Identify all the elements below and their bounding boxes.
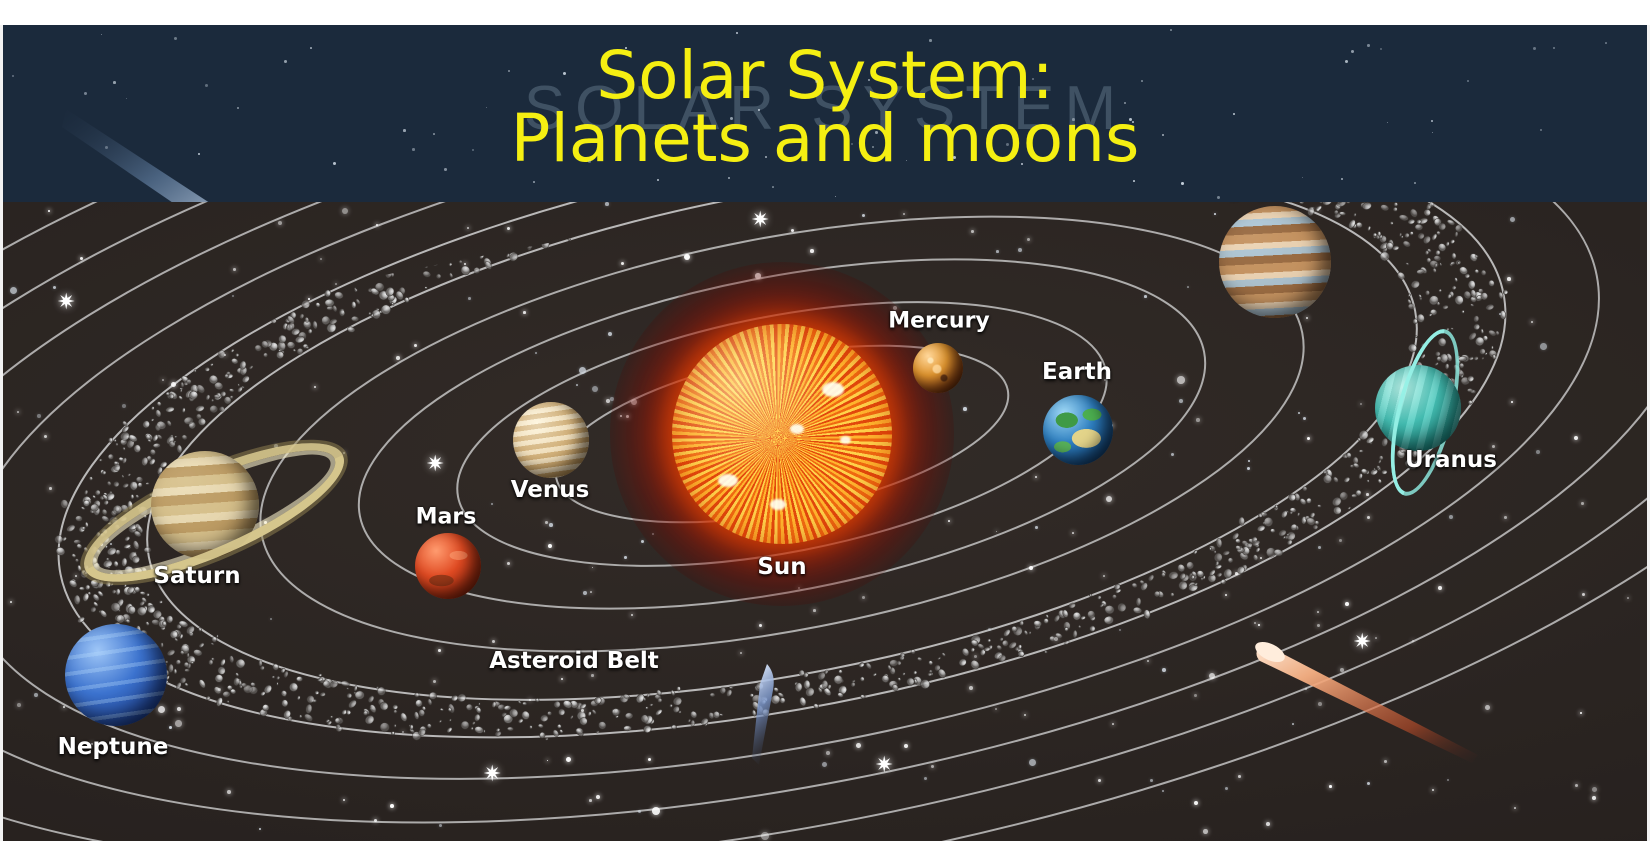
star [10, 601, 12, 603]
page-edge-bottom [0, 841, 1650, 849]
star [1235, 572, 1238, 575]
label-earth: Earth [1042, 359, 1112, 385]
star [1507, 277, 1511, 281]
star [591, 674, 594, 677]
star [1360, 403, 1362, 405]
label-venus: Venus [511, 477, 590, 503]
header-star [412, 148, 415, 151]
star [1540, 343, 1547, 350]
sparkle-star: ✷ [875, 754, 893, 776]
comet-bottom-left-icon [745, 662, 790, 767]
star [1194, 801, 1198, 805]
star [1029, 759, 1036, 766]
header-star [533, 181, 535, 183]
header-star [1217, 196, 1220, 199]
star [1225, 594, 1227, 596]
header-star [1133, 180, 1135, 182]
label-mars: Mars [416, 505, 477, 530]
star [1298, 412, 1300, 414]
planet-body-venus [513, 402, 589, 478]
planet-uranus[interactable] [1375, 365, 1461, 451]
star [1177, 376, 1185, 384]
star [175, 720, 182, 727]
star [638, 810, 641, 813]
star [75, 575, 77, 577]
planet-jupiter[interactable] [1219, 206, 1331, 318]
star [1266, 822, 1270, 826]
star [822, 762, 827, 767]
header-star [1072, 118, 1075, 121]
header-star [715, 61, 718, 64]
star [652, 807, 660, 815]
star [1035, 476, 1037, 478]
planet-saturn[interactable] [151, 451, 259, 559]
header-star [1233, 113, 1235, 115]
star [1144, 295, 1147, 298]
star [1258, 624, 1260, 626]
planet-body-neptune [65, 624, 167, 726]
star [590, 591, 592, 593]
star [1214, 213, 1216, 215]
star [1581, 502, 1584, 505]
star [581, 709, 584, 712]
header-star [875, 131, 878, 134]
star [233, 268, 236, 271]
title-line-1: Solar System: [0, 45, 1650, 108]
header-star [835, 196, 836, 197]
header-star [310, 47, 312, 49]
star [1449, 515, 1453, 519]
header-star [1124, 102, 1126, 104]
star [1196, 418, 1200, 422]
star [342, 208, 348, 214]
header-star [284, 60, 287, 63]
star [44, 435, 47, 438]
star [1345, 602, 1349, 606]
star [1536, 450, 1540, 454]
sparkle-star: ✷ [751, 209, 769, 231]
star [438, 649, 441, 652]
star [761, 832, 769, 840]
sun-body [672, 324, 892, 544]
star [624, 556, 627, 559]
label-sun: Sun [757, 554, 806, 580]
star [1318, 546, 1321, 549]
title-line-2: Planets and moons [0, 108, 1650, 171]
star [948, 520, 950, 522]
star [278, 221, 282, 225]
star [1018, 248, 1022, 252]
star [227, 790, 231, 794]
star [903, 213, 905, 215]
star [1329, 785, 1332, 788]
star [34, 693, 38, 697]
star [1514, 807, 1516, 809]
planet-body-mercury [913, 343, 963, 393]
star [1103, 575, 1105, 577]
star [1203, 829, 1208, 834]
star [1194, 694, 1197, 697]
planet-body-jupiter [1219, 206, 1331, 318]
star [1627, 597, 1629, 599]
star [545, 521, 548, 524]
header-star [12, 75, 14, 77]
header-star [1170, 29, 1172, 31]
planet-body-mars [415, 533, 481, 599]
header-star [1302, 177, 1303, 178]
star [971, 230, 974, 233]
star [1029, 566, 1033, 570]
star [1112, 723, 1114, 725]
header-star [1341, 178, 1343, 180]
star [1238, 775, 1241, 778]
star [1592, 796, 1596, 800]
header-star [765, 156, 767, 158]
header-star [1605, 42, 1607, 44]
star [507, 562, 510, 565]
star [810, 249, 814, 253]
header-star [588, 160, 591, 163]
star [1187, 286, 1189, 288]
solar-system-poster: SOLAR SYSTEM Solar System: Planets and m… [0, 0, 1650, 849]
star [576, 384, 578, 386]
header-star [736, 32, 738, 34]
page-edge-top [0, 0, 1650, 25]
star [162, 379, 164, 381]
star [390, 804, 394, 808]
planet-mercury[interactable] [913, 343, 963, 393]
star [48, 210, 50, 212]
star [1438, 586, 1442, 590]
star [1504, 516, 1507, 519]
star [996, 250, 999, 253]
header-star [657, 179, 659, 181]
star [218, 688, 221, 691]
header-star [403, 129, 406, 132]
star [1035, 526, 1038, 529]
label-mercury: Mercury [888, 309, 990, 334]
star [1150, 779, 1153, 782]
star [826, 751, 830, 755]
star [433, 680, 436, 683]
planet-earth[interactable] [1043, 395, 1113, 465]
star [259, 828, 261, 830]
header-star [1414, 182, 1416, 184]
planet-neptune[interactable] [65, 624, 167, 726]
planet-venus[interactable] [513, 402, 589, 478]
header-star [772, 186, 774, 188]
header-star [1181, 182, 1184, 185]
star [1147, 660, 1149, 662]
header-star [1141, 80, 1143, 82]
label-asteroid-belt: Asteroid Belt [489, 648, 659, 674]
sun [672, 324, 892, 544]
header-star [1351, 50, 1354, 53]
star [995, 708, 997, 710]
star [374, 819, 377, 822]
label-uranus: Uranus [1405, 447, 1497, 473]
star [589, 799, 592, 802]
header-star [1380, 48, 1382, 50]
star [969, 686, 973, 690]
star [17, 411, 19, 413]
star [335, 283, 337, 285]
star [467, 227, 469, 229]
star [1580, 712, 1582, 714]
star [320, 258, 322, 260]
star [177, 707, 181, 711]
star [1072, 532, 1074, 534]
star [1317, 611, 1319, 613]
star [17, 703, 21, 707]
planet-mars[interactable] [415, 533, 481, 599]
header-star [174, 37, 177, 40]
star [605, 202, 609, 206]
header-star [1032, 78, 1034, 80]
star [468, 297, 471, 300]
star [1260, 557, 1262, 559]
star [1582, 593, 1585, 596]
comet-bottom-right-icon [1250, 637, 1480, 767]
label-saturn: Saturn [153, 563, 240, 589]
star [414, 344, 417, 347]
header-star [929, 39, 932, 42]
sparkle-star: ✷ [426, 453, 444, 475]
star [963, 407, 967, 411]
star [308, 298, 310, 300]
star [1054, 637, 1058, 641]
star [1367, 782, 1370, 785]
star [1254, 622, 1256, 624]
header-star [444, 168, 447, 171]
label-neptune: Neptune [58, 734, 169, 760]
star [813, 609, 816, 612]
star [396, 356, 400, 360]
header-star [433, 133, 435, 135]
star [1366, 493, 1369, 496]
star [548, 544, 552, 548]
space-scene: ✷✷✷✷✷✷ [0, 202, 1650, 841]
header-star [728, 177, 730, 179]
star [1485, 705, 1490, 710]
star [988, 628, 991, 631]
star [523, 311, 526, 314]
star [583, 591, 587, 595]
header-star [1367, 44, 1370, 47]
star [37, 414, 41, 418]
star [596, 795, 600, 799]
header-star [113, 81, 116, 84]
star [592, 386, 598, 392]
star [169, 726, 172, 729]
star [49, 487, 52, 490]
planet-body-earth [1043, 395, 1113, 465]
star [122, 404, 126, 408]
header-star [101, 34, 102, 35]
poster-title: Solar System: Planets and moons [0, 45, 1650, 170]
sparkle-star: ✷ [483, 763, 501, 785]
header-star [1132, 121, 1134, 123]
star [1162, 668, 1166, 672]
header-star [1553, 47, 1555, 49]
header-star [1129, 118, 1132, 121]
header-star [625, 47, 627, 49]
sparkle-star: ✷ [57, 291, 75, 313]
star [343, 452, 345, 454]
star [1179, 399, 1183, 403]
page-edge-left [0, 25, 3, 841]
star [856, 743, 861, 748]
poster-header: SOLAR SYSTEM Solar System: Planets and m… [0, 25, 1650, 202]
star [549, 523, 553, 527]
star [1499, 313, 1501, 315]
